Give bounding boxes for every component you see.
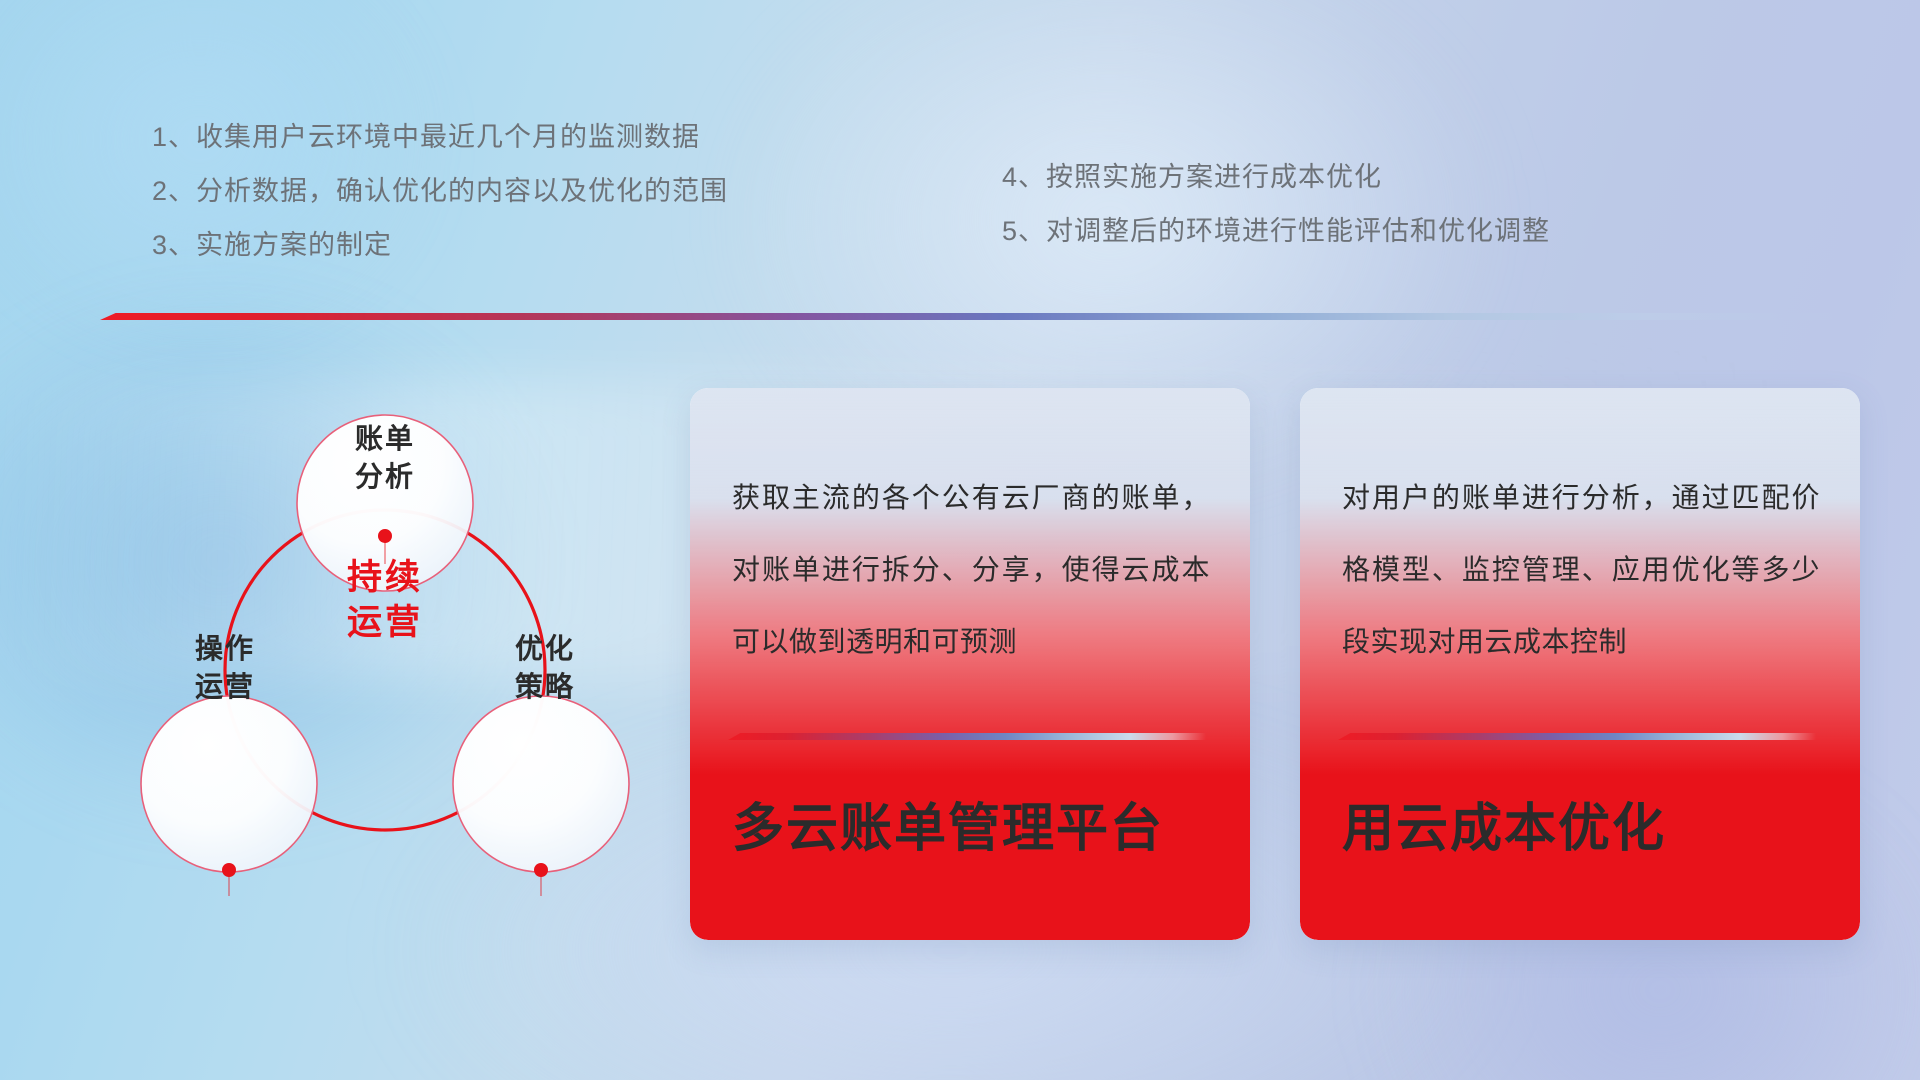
- card-description: 获取主流的各个公有云厂商的账单，对账单进行拆分、分享，使得云成本可以做到透明和可…: [732, 462, 1210, 678]
- cycle-dot-top: [378, 529, 392, 543]
- section-divider: [100, 313, 1836, 320]
- step-item-5: 5、对调整后的环境进行性能评估和优化调整: [1002, 204, 1550, 258]
- steps-left-column: 1、收集用户云环境中最近几个月的监测数据 2、分析数据，确认优化的内容以及优化的…: [152, 110, 728, 272]
- steps-right-column: 4、按照实施方案进行成本优化 5、对调整后的环境进行性能评估和优化调整: [1002, 150, 1550, 258]
- cycle-bubble-right: [453, 696, 629, 872]
- card-divider: [728, 733, 1206, 740]
- step-item-1: 1、收集用户云环境中最近几个月的监测数据: [152, 110, 728, 164]
- cycle-center-label: 持续 运营: [285, 555, 485, 645]
- step-item-4: 4、按照实施方案进行成本优化: [1002, 150, 1550, 204]
- cycle-center-line1: 持续: [285, 555, 485, 600]
- card-divider-bar: [728, 733, 1206, 740]
- card-description: 对用户的账单进行分析，通过匹配价格模型、监控管理、应用优化等多少段实现对用云成本…: [1342, 462, 1820, 678]
- feature-card-multi-cloud-billing[interactable]: 获取主流的各个公有云厂商的账单，对账单进行拆分、分享，使得云成本可以做到透明和可…: [690, 388, 1250, 940]
- cycle-bubble-left: [141, 696, 317, 872]
- card-divider: [1338, 733, 1816, 740]
- cycle-dot-left: [222, 863, 236, 877]
- card-divider-bar: [1338, 733, 1816, 740]
- step-item-3: 3、实施方案的制定: [152, 218, 728, 272]
- cycle-diagram: 持续 运营 账单 分析 操作 运营 优化 策略: [90, 350, 670, 950]
- cycle-center-line2: 运营: [285, 600, 485, 645]
- card-title: 用云成本优化: [1342, 798, 1666, 860]
- section-divider-bar: [100, 313, 1836, 320]
- card-title: 多云账单管理平台: [732, 798, 1164, 860]
- feature-card-cloud-cost-optimization[interactable]: 对用户的账单进行分析，通过匹配价格模型、监控管理、应用优化等多少段实现对用云成本…: [1300, 388, 1860, 940]
- step-item-2: 2、分析数据，确认优化的内容以及优化的范围: [152, 164, 728, 218]
- slide-canvas: 1、收集用户云环境中最近几个月的监测数据 2、分析数据，确认优化的内容以及优化的…: [0, 0, 1920, 1080]
- cycle-diagram-svg: [90, 350, 670, 950]
- cycle-dot-right: [534, 863, 548, 877]
